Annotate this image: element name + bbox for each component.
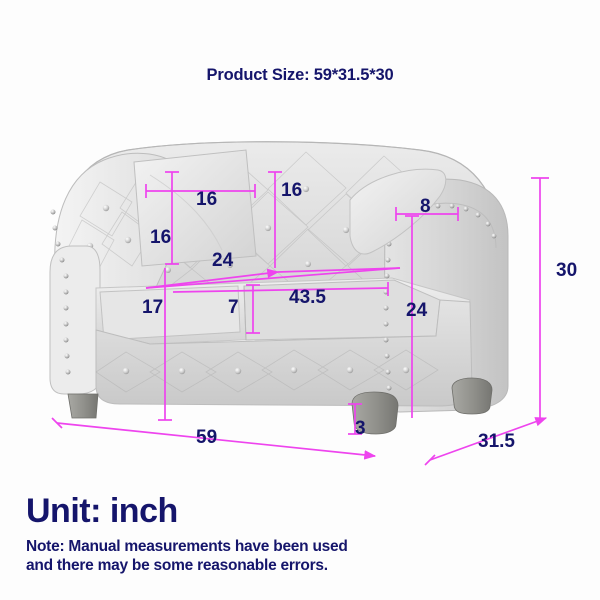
dim-overall-height [531,178,549,418]
sofa-leg-front-left [68,394,98,418]
sofa-leg-back-right [452,378,492,414]
label-seat-depth: 24 [212,250,234,271]
label-arm-width: 8 [420,196,431,217]
product-dimension-diagram: Product Size: 59*31.5*30 [0,0,600,600]
label-overall-depth: 31.5 [478,431,515,452]
note-line-2: and there may be some reasonable errors. [26,556,586,575]
label-overall-width: 59 [196,427,217,448]
label-cushion-thickness: 7 [228,297,239,318]
measurement-note: Note: Manual measurements have been used… [26,537,586,575]
seat-cushion-left [100,286,240,340]
label-overall-height: 30 [556,260,577,281]
label-seat-height: 17 [142,297,163,318]
throw-pillow-left [134,150,256,266]
label-pillow-height: 16 [150,227,171,248]
unit-heading: Unit: inch [26,492,586,530]
sofa-illustration [50,142,508,434]
label-arm-height: 24 [406,300,428,321]
label-pillow-width: 16 [196,189,217,210]
note-line-1: Note: Manual measurements have been used [26,537,586,556]
arm-left-front-panel [50,246,100,394]
footer-notes: Unit: inch Note: Manual measurements hav… [26,492,586,575]
label-seat-width: 43.5 [289,287,326,308]
label-backrest-height: 16 [281,180,302,201]
label-leg-height: 3 [355,418,366,439]
